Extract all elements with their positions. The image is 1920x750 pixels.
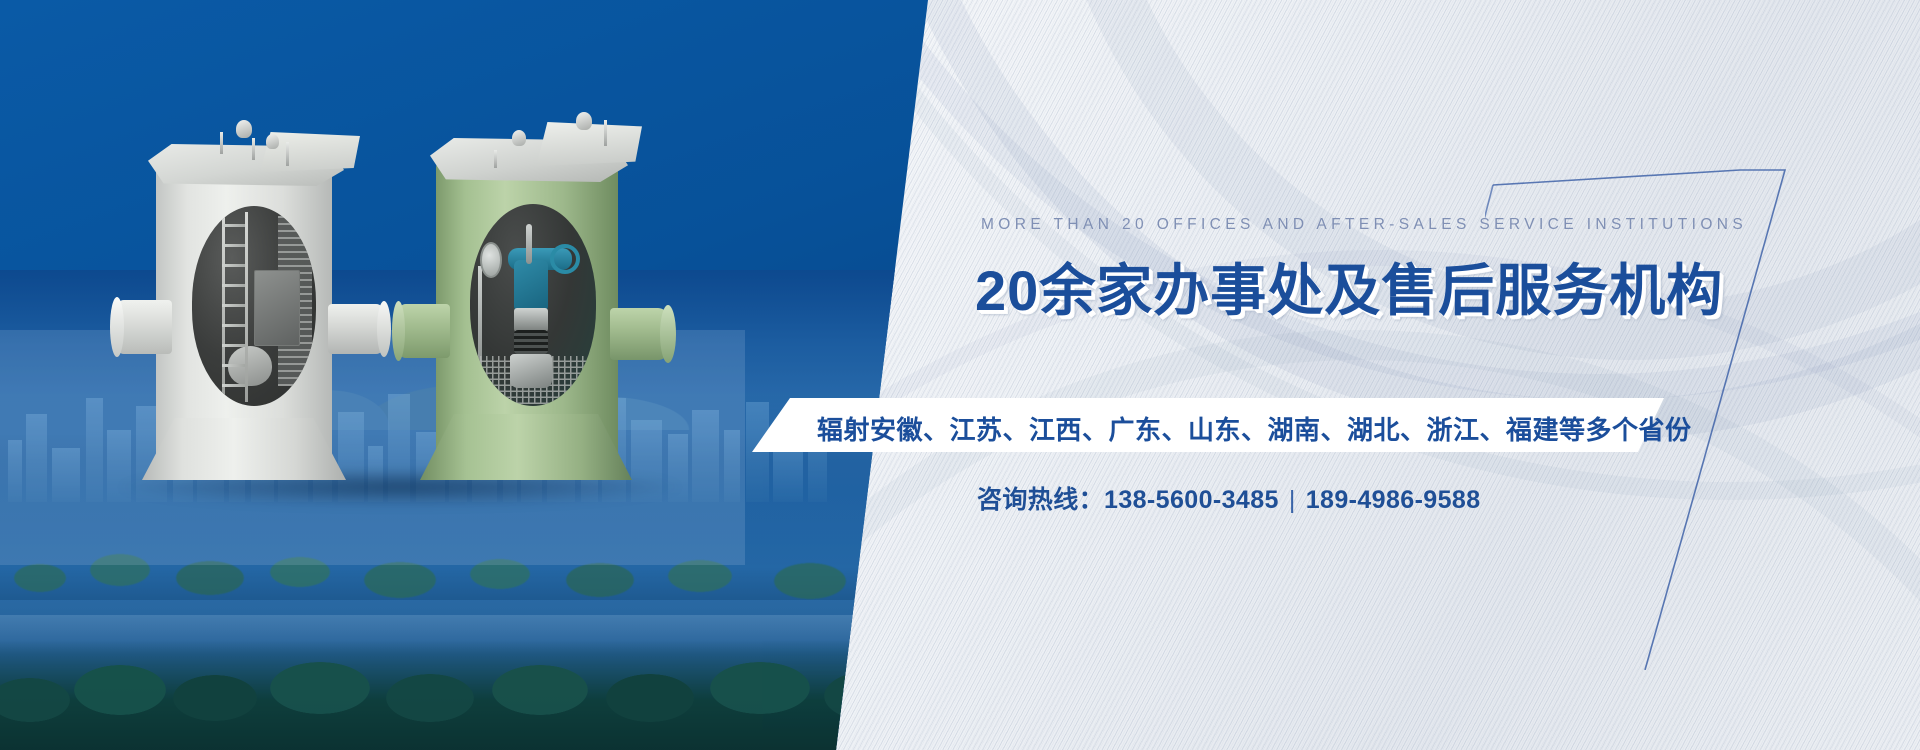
green-cutaway-window [470,204,596,406]
left-blue-panel [0,0,960,750]
green-inlet-pipe [398,304,450,358]
skyline-building [773,444,803,502]
grey-post-1 [220,132,223,154]
green-post-1 [604,120,607,146]
hotline-primary-number[interactable]: 138-5600-3485 [1104,486,1279,514]
promo-banner: MORE THAN 20 OFFICES AND AFTER-SALES SER… [0,0,1920,750]
green-post-2 [494,150,497,168]
green-valve-stem [526,224,532,264]
green-vent-cap-2 [576,112,592,130]
hotline-row: 咨询热线：138-5600-3485|189-4986-9588 [977,480,1481,516]
green-reducer-cone [514,308,548,332]
grey-base-skirt [142,418,346,480]
grey-outlet-pipe [328,304,384,354]
grey-vent-cap-1 [236,120,252,138]
product-grey-pump-station [148,118,360,478]
green-bellows-joint [514,330,548,354]
hotline-separator: | [1279,486,1306,514]
green-outlet-pipe [610,308,668,360]
hotline-secondary-number[interactable]: 189-4986-9588 [1306,486,1481,514]
page-title: 20余家办事处及售后服务机构 [975,246,1723,327]
grey-internal-ladder [222,212,248,402]
grey-inlet-pipe [116,300,172,354]
foreground-forest [0,640,960,750]
grey-post-3 [286,142,289,166]
coverage-provinces-text: 辐射安徽、江苏、江西、广东、山东、湖南、湖北、浙江、福建等多个省份 [817,410,1692,447]
hotline-label: 咨询热线： [977,486,1104,514]
green-valve-flange [480,242,502,278]
skyline-building [746,402,769,502]
product-green-pump-station [428,112,643,484]
green-vent-cap-1 [512,130,526,146]
green-submersible-pump [510,354,552,388]
green-base-skirt [420,414,632,480]
grey-vent-cap-2 [266,134,279,149]
green-valve-body [514,260,548,312]
grey-post-2 [252,138,255,160]
eyebrow-english-tagline: MORE THAN 20 OFFICES AND AFTER-SALES SER… [981,216,1747,234]
grey-cutaway-window [192,206,316,406]
green-valve-handwheel [550,244,580,274]
grey-internal-panel [254,270,300,346]
